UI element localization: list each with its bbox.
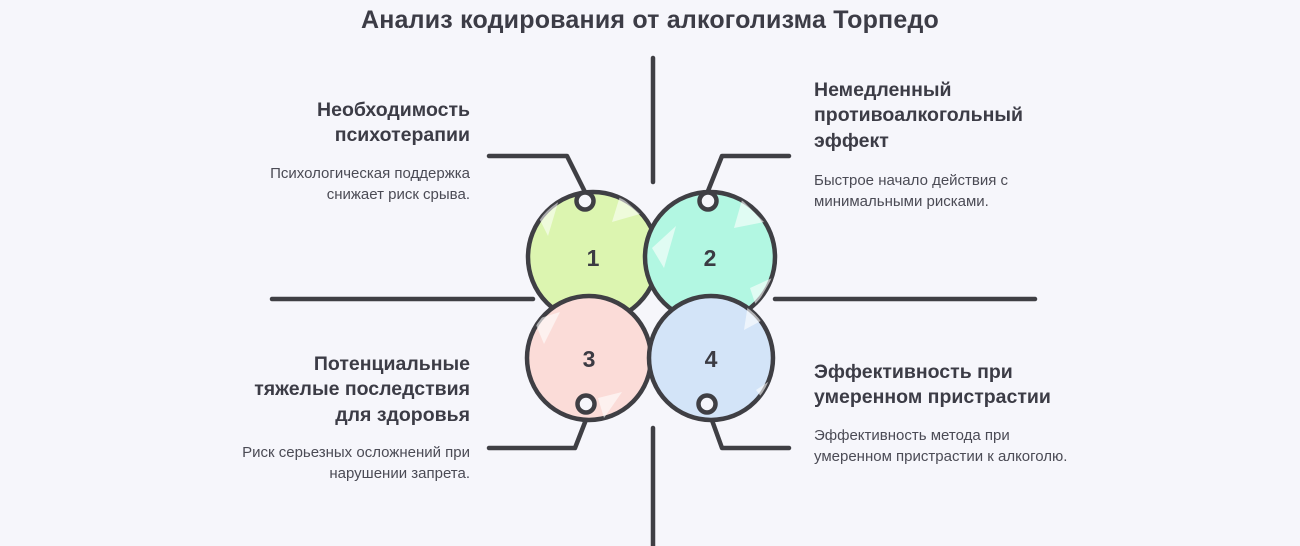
callout-description-1: Психологическая поддержка снижает риск с…	[232, 163, 470, 206]
callout-heading-2: Немедленный противоалкогольный эффект	[814, 78, 1074, 154]
callout-description-4: Эффективность метода при умеренном прист…	[814, 425, 1069, 468]
callout-description-3: Риск серьезных осложнений при нарушении …	[232, 442, 470, 485]
callout-description-2: Быстрое начало действия с минимальными р…	[814, 170, 1074, 213]
venn-number-1: 1	[587, 245, 600, 271]
node-ring-3[interactable]	[578, 396, 595, 413]
connector-node-1	[489, 156, 587, 196]
infographic-canvas: Анализ кодирования от алкоголизма Торпед…	[0, 0, 1300, 546]
callout-heading-3: Потенциальные тяжелые последствия для зд…	[232, 352, 470, 428]
callout-bottom-right: Эффективность при умеренном пристрастии …	[814, 360, 1069, 467]
venn-number-2: 2	[704, 245, 717, 271]
callout-top-left: Необходимость психотерапии Психологическ…	[232, 98, 470, 205]
node-ring-4[interactable]	[699, 396, 716, 413]
callout-heading-4: Эффективность при умеренном пристрастии	[814, 360, 1069, 411]
node-ring-1[interactable]	[577, 193, 594, 210]
connector-node-2	[706, 156, 789, 196]
callout-bottom-left: Потенциальные тяжелые последствия для зд…	[232, 352, 470, 485]
venn-number-3: 3	[583, 346, 596, 372]
callout-top-right: Немедленный противоалкогольный эффект Бы…	[814, 78, 1074, 213]
venn-number-4: 4	[705, 346, 718, 372]
venn-diagram: 1 2 3 4	[0, 0, 1300, 546]
callout-heading-1: Необходимость психотерапии	[232, 98, 470, 149]
node-ring-2[interactable]	[700, 193, 717, 210]
